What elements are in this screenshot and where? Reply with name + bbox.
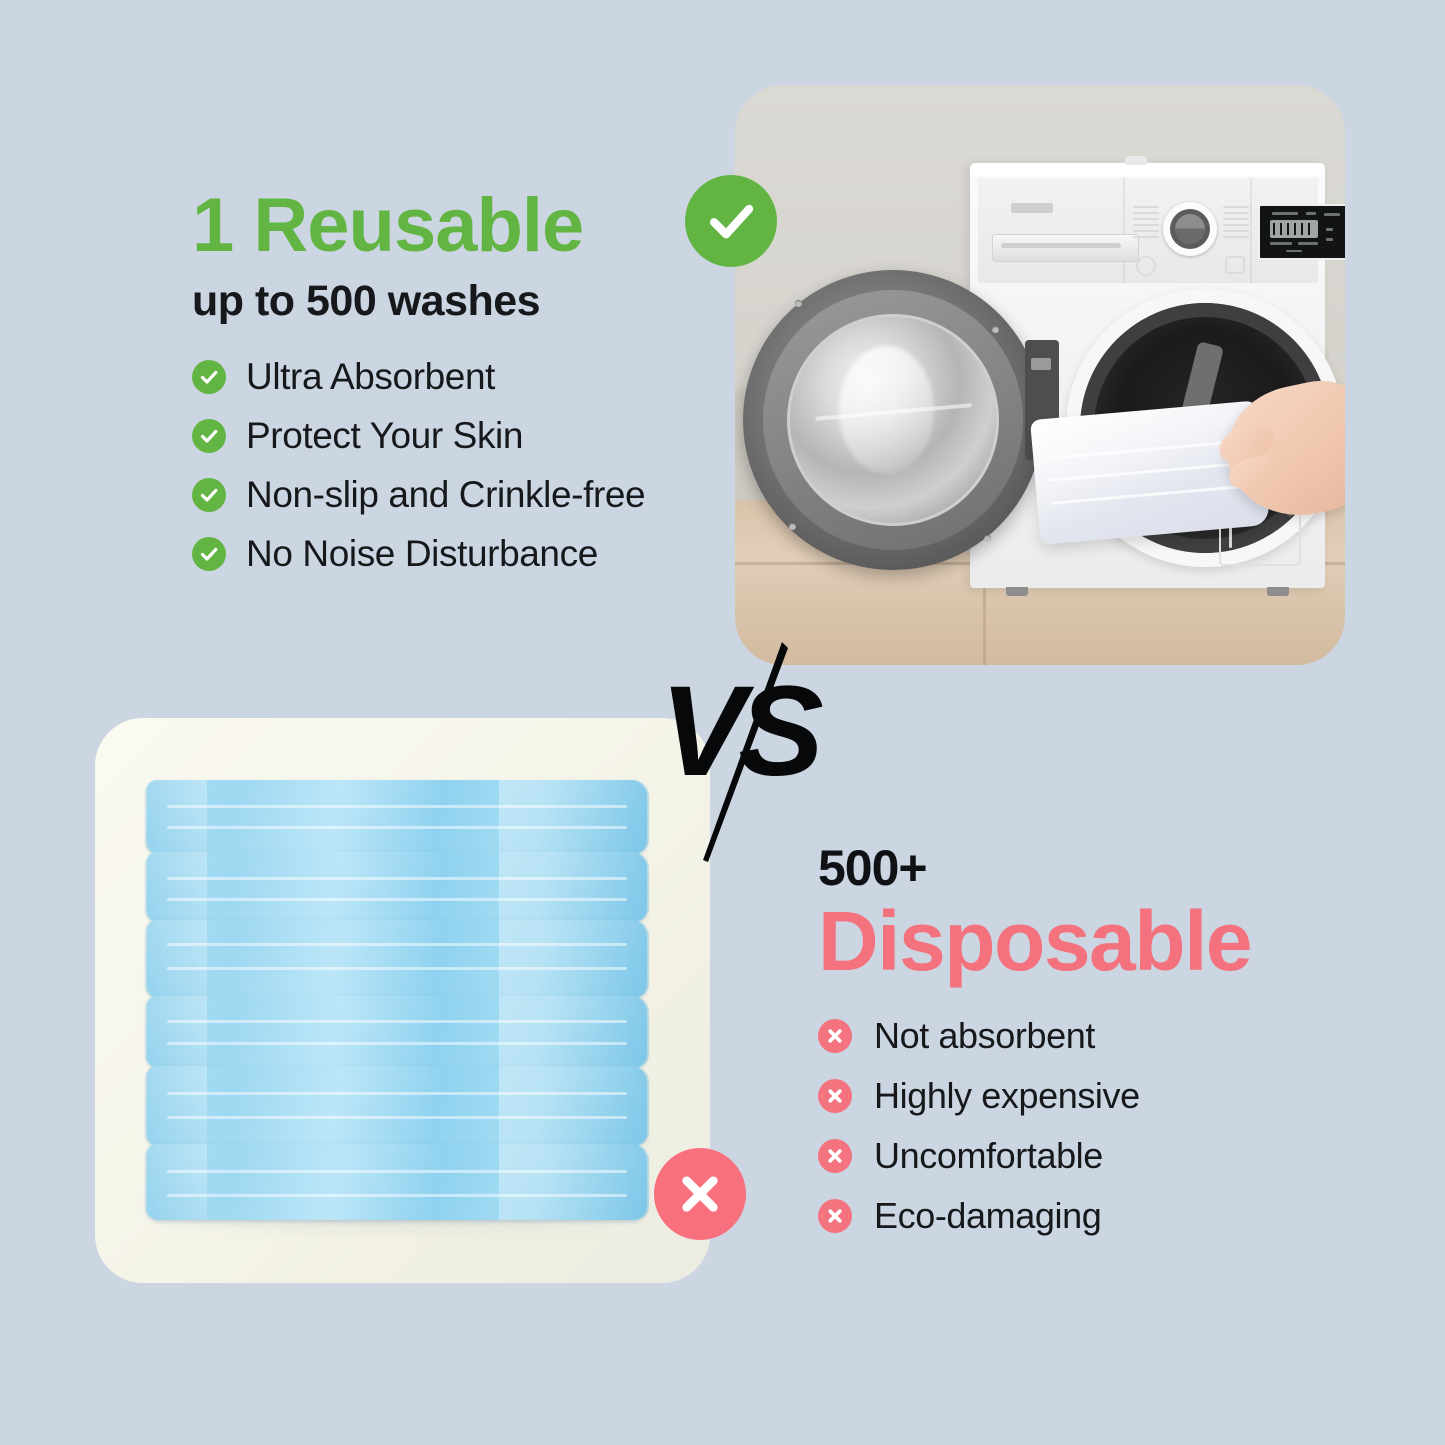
- console-seam-right: [1250, 178, 1252, 283]
- drawback-label: Highly expensive: [874, 1077, 1140, 1116]
- cross-icon: [671, 1165, 729, 1223]
- console-vent-right: [1223, 206, 1249, 242]
- cross-circle-icon: [818, 1139, 852, 1173]
- infographic-canvas: 1 Reusable up to 500 washes Ultra Absorb…: [0, 0, 1445, 1445]
- washer-foot-left: [1006, 587, 1028, 596]
- pad-stack: [147, 780, 647, 1220]
- cross-circle-badge: [654, 1148, 746, 1240]
- console-square-button: [1225, 256, 1245, 274]
- check-circle-icon: [192, 360, 226, 394]
- pad-item: [147, 1144, 647, 1220]
- reusable-subheading: up to 500 washes: [192, 280, 712, 323]
- drawback-item: Not absorbent: [818, 1017, 1338, 1056]
- drawback-item: Uncomfortable: [818, 1137, 1338, 1176]
- reusable-heading: 1 Reusable: [192, 188, 712, 264]
- disposable-drawback-list: Not absorbent Highly expensive Uncomfort…: [818, 1017, 1338, 1236]
- check-circle-icon: [192, 419, 226, 453]
- console-seam-left: [1123, 178, 1125, 283]
- reusable-feature-list: Ultra Absorbent Protect Your Skin Non-sl…: [192, 357, 712, 574]
- cross-circle-icon: [818, 1199, 852, 1233]
- feature-label: Protect Your Skin: [246, 416, 523, 456]
- reusable-section: 1 Reusable up to 500 washes Ultra Absorb…: [192, 188, 712, 593]
- washer-door-open: [743, 270, 1043, 570]
- check-circle-icon: [192, 478, 226, 512]
- drawback-label: Not absorbent: [874, 1017, 1095, 1056]
- disposable-section: 500+ Disposable Not absorbent Highly exp…: [818, 843, 1338, 1257]
- power-button-icon: [1136, 256, 1156, 276]
- pad-item: [147, 996, 647, 1068]
- pad-item: [147, 920, 647, 998]
- versus-mark: VS: [660, 640, 850, 870]
- feature-label: No Noise Disturbance: [246, 534, 598, 574]
- console-vent-left: [1133, 206, 1159, 242]
- pad-item: [147, 852, 647, 922]
- feature-label: Non-slip and Crinkle-free: [246, 475, 645, 515]
- disposable-heading: Disposable: [818, 899, 1338, 983]
- feature-item: Ultra Absorbent: [192, 357, 712, 397]
- feature-item: No Noise Disturbance: [192, 534, 712, 574]
- diagonal-slash-icon: [660, 640, 850, 870]
- check-circle-icon: [192, 537, 226, 571]
- disposable-pads-photo: [95, 718, 710, 1283]
- drawback-label: Uncomfortable: [874, 1137, 1103, 1176]
- washer-top-surface: [970, 163, 1325, 176]
- washer-control-console: [978, 178, 1318, 283]
- washer-foot-right: [1267, 587, 1289, 596]
- cross-circle-icon: [818, 1079, 852, 1113]
- washing-machine-photo: [735, 85, 1345, 665]
- washer-lcd-display: [1258, 204, 1345, 260]
- pad-item: [147, 1066, 647, 1146]
- feature-label: Ultra Absorbent: [246, 357, 495, 397]
- detergent-drawer: [992, 234, 1139, 262]
- pad-item: [147, 780, 647, 854]
- program-dial: [1163, 202, 1217, 256]
- drawback-item: Eco-damaging: [818, 1197, 1338, 1236]
- washer-brand-logo: [1011, 203, 1053, 213]
- drawback-label: Eco-damaging: [874, 1197, 1101, 1236]
- cross-circle-icon: [818, 1019, 852, 1053]
- drawback-item: Highly expensive: [818, 1077, 1338, 1116]
- washer-top-nub: [1125, 156, 1147, 165]
- feature-item: Non-slip and Crinkle-free: [192, 475, 712, 515]
- feature-item: Protect Your Skin: [192, 416, 712, 456]
- disposable-count: 500+: [818, 843, 1338, 893]
